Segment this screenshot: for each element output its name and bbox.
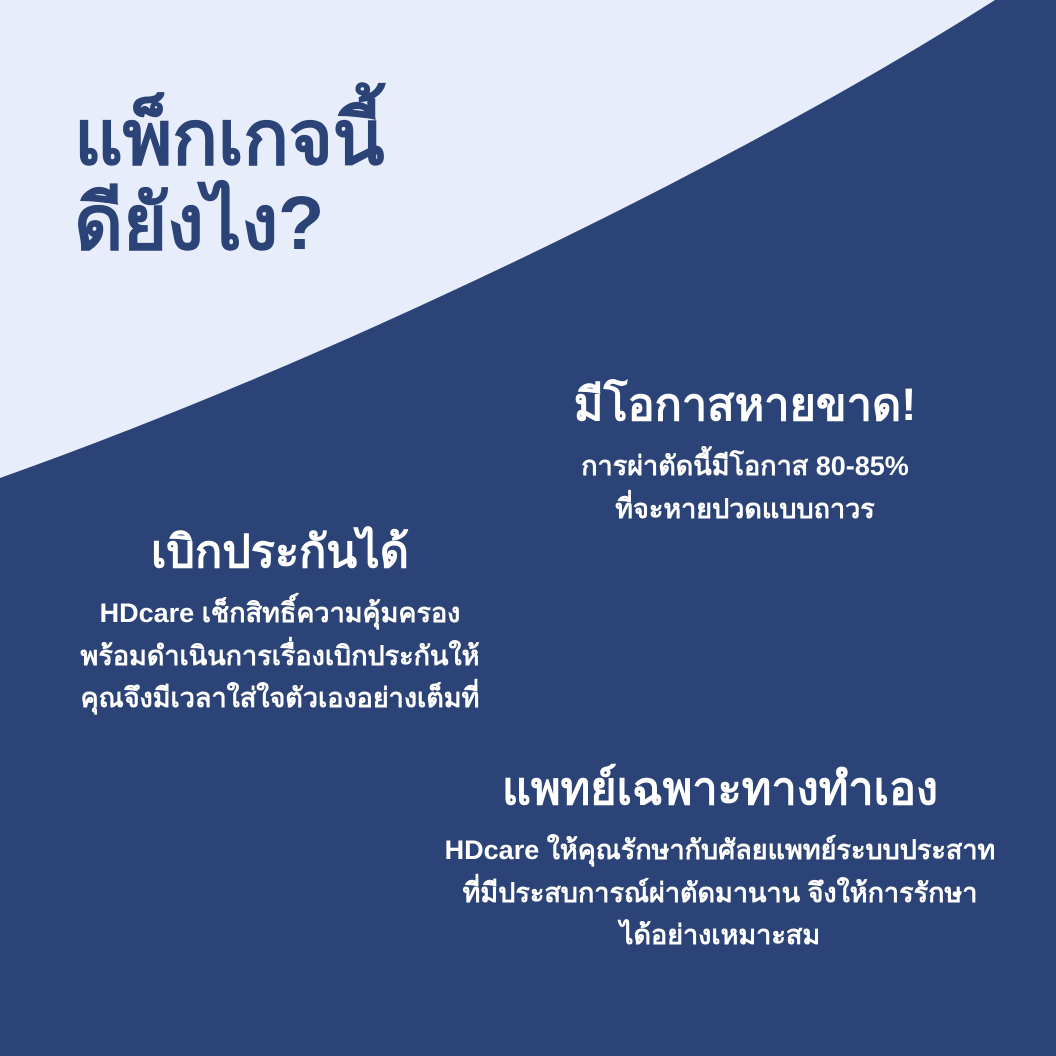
- benefit-block-recovery: มีโอกาสหายขาด! การผ่าตัดนี้มีโอกาส 80-85…: [435, 378, 1055, 530]
- benefit-body-line: พร้อมดำเนินการเรื่องเบิกประกันให้: [20, 635, 540, 678]
- benefit-body-line: ได้อย่างเหมาะสม: [420, 914, 1020, 957]
- benefit-block-insurance: เบิกประกันได้ HDcare เช็กสิทธิ์ความคุ้มค…: [20, 525, 540, 720]
- benefit-body-line: HDcare ให้คุณรักษากับศัลยแพทย์ระบบประสาท: [420, 829, 1020, 872]
- benefit-title-insurance: เบิกประกันได้: [20, 525, 540, 578]
- headline-line-2: ดียังไง?: [74, 181, 594, 266]
- benefit-body-line: คุณจึงมีเวลาใส่ใจตัวเองอย่างเต็มที่: [20, 677, 540, 720]
- benefit-title-specialist: แพทย์เฉพาะทางทำเอง: [420, 762, 1020, 815]
- poster-canvas: แพ็กเกจนี้ ดียังไง? มีโอกาสหายขาด! การผ่…: [0, 0, 1056, 1056]
- benefit-body-specialist: HDcare ให้คุณรักษากับศัลยแพทย์ระบบประสาท…: [420, 829, 1020, 957]
- benefit-body-recovery: การผ่าตัดนี้มีโอกาส 80-85% ที่จะหายปวดแบ…: [435, 445, 1055, 530]
- benefit-body-line: HDcare เช็กสิทธิ์ความคุ้มครอง: [20, 592, 540, 635]
- benefit-body-line: ที่จะหายปวดแบบถาวร: [435, 488, 1055, 531]
- benefit-body-line: ที่มีประสบการณ์ผ่าตัดมานาน จึงให้การรักษ…: [420, 872, 1020, 915]
- benefit-body-insurance: HDcare เช็กสิทธิ์ความคุ้มครอง พร้อมดำเนิ…: [20, 592, 540, 720]
- page-title: แพ็กเกจนี้ ดียังไง?: [74, 96, 594, 266]
- benefit-body-line: การผ่าตัดนี้มีโอกาส 80-85%: [435, 445, 1055, 488]
- benefit-block-specialist: แพทย์เฉพาะทางทำเอง HDcare ให้คุณรักษากับ…: [420, 762, 1020, 957]
- headline-line-1: แพ็กเกจนี้: [74, 96, 594, 181]
- benefit-title-recovery: มีโอกาสหายขาด!: [435, 378, 1055, 431]
